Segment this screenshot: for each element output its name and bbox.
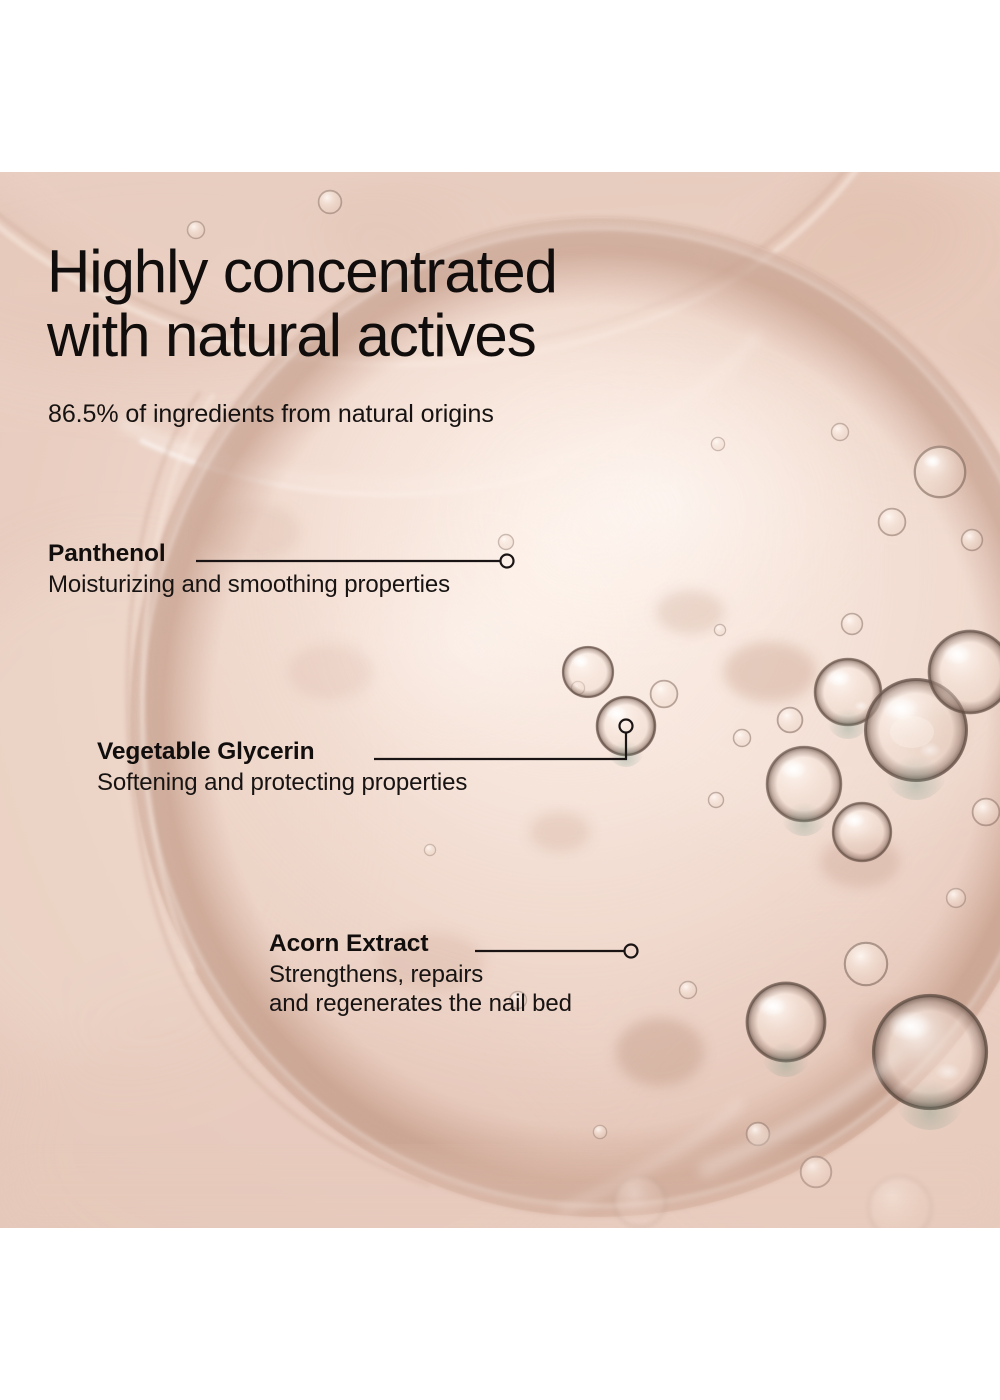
callout-panthenol-description: Moisturizing and smoothing properties xyxy=(48,571,450,600)
callout-panthenol: Panthenol Moisturizing and smoothing pro… xyxy=(48,540,450,600)
callout-acorn-extract-name: Acorn Extract xyxy=(269,930,572,958)
page-subtitle: 86.5% of ingredients from natural origin… xyxy=(48,400,494,429)
callout-vegetable-glycerin: Vegetable Glycerin Softening and protect… xyxy=(97,738,467,798)
callout-vegetable-glycerin-name: Vegetable Glycerin xyxy=(97,738,467,766)
callout-acorn-extract-description: Strengthens, repairs and regenerates the… xyxy=(269,961,572,1018)
page-title: Highly concentrated with natural actives xyxy=(47,240,787,368)
callout-vegetable-glycerin-description: Softening and protecting properties xyxy=(97,769,467,798)
callout-acorn-extract: Acorn Extract Strengthens, repairs and r… xyxy=(269,930,572,1018)
callout-panthenol-name: Panthenol xyxy=(48,540,450,568)
product-ingredient-infographic: Highly concentrated with natural actives… xyxy=(0,0,1000,1400)
